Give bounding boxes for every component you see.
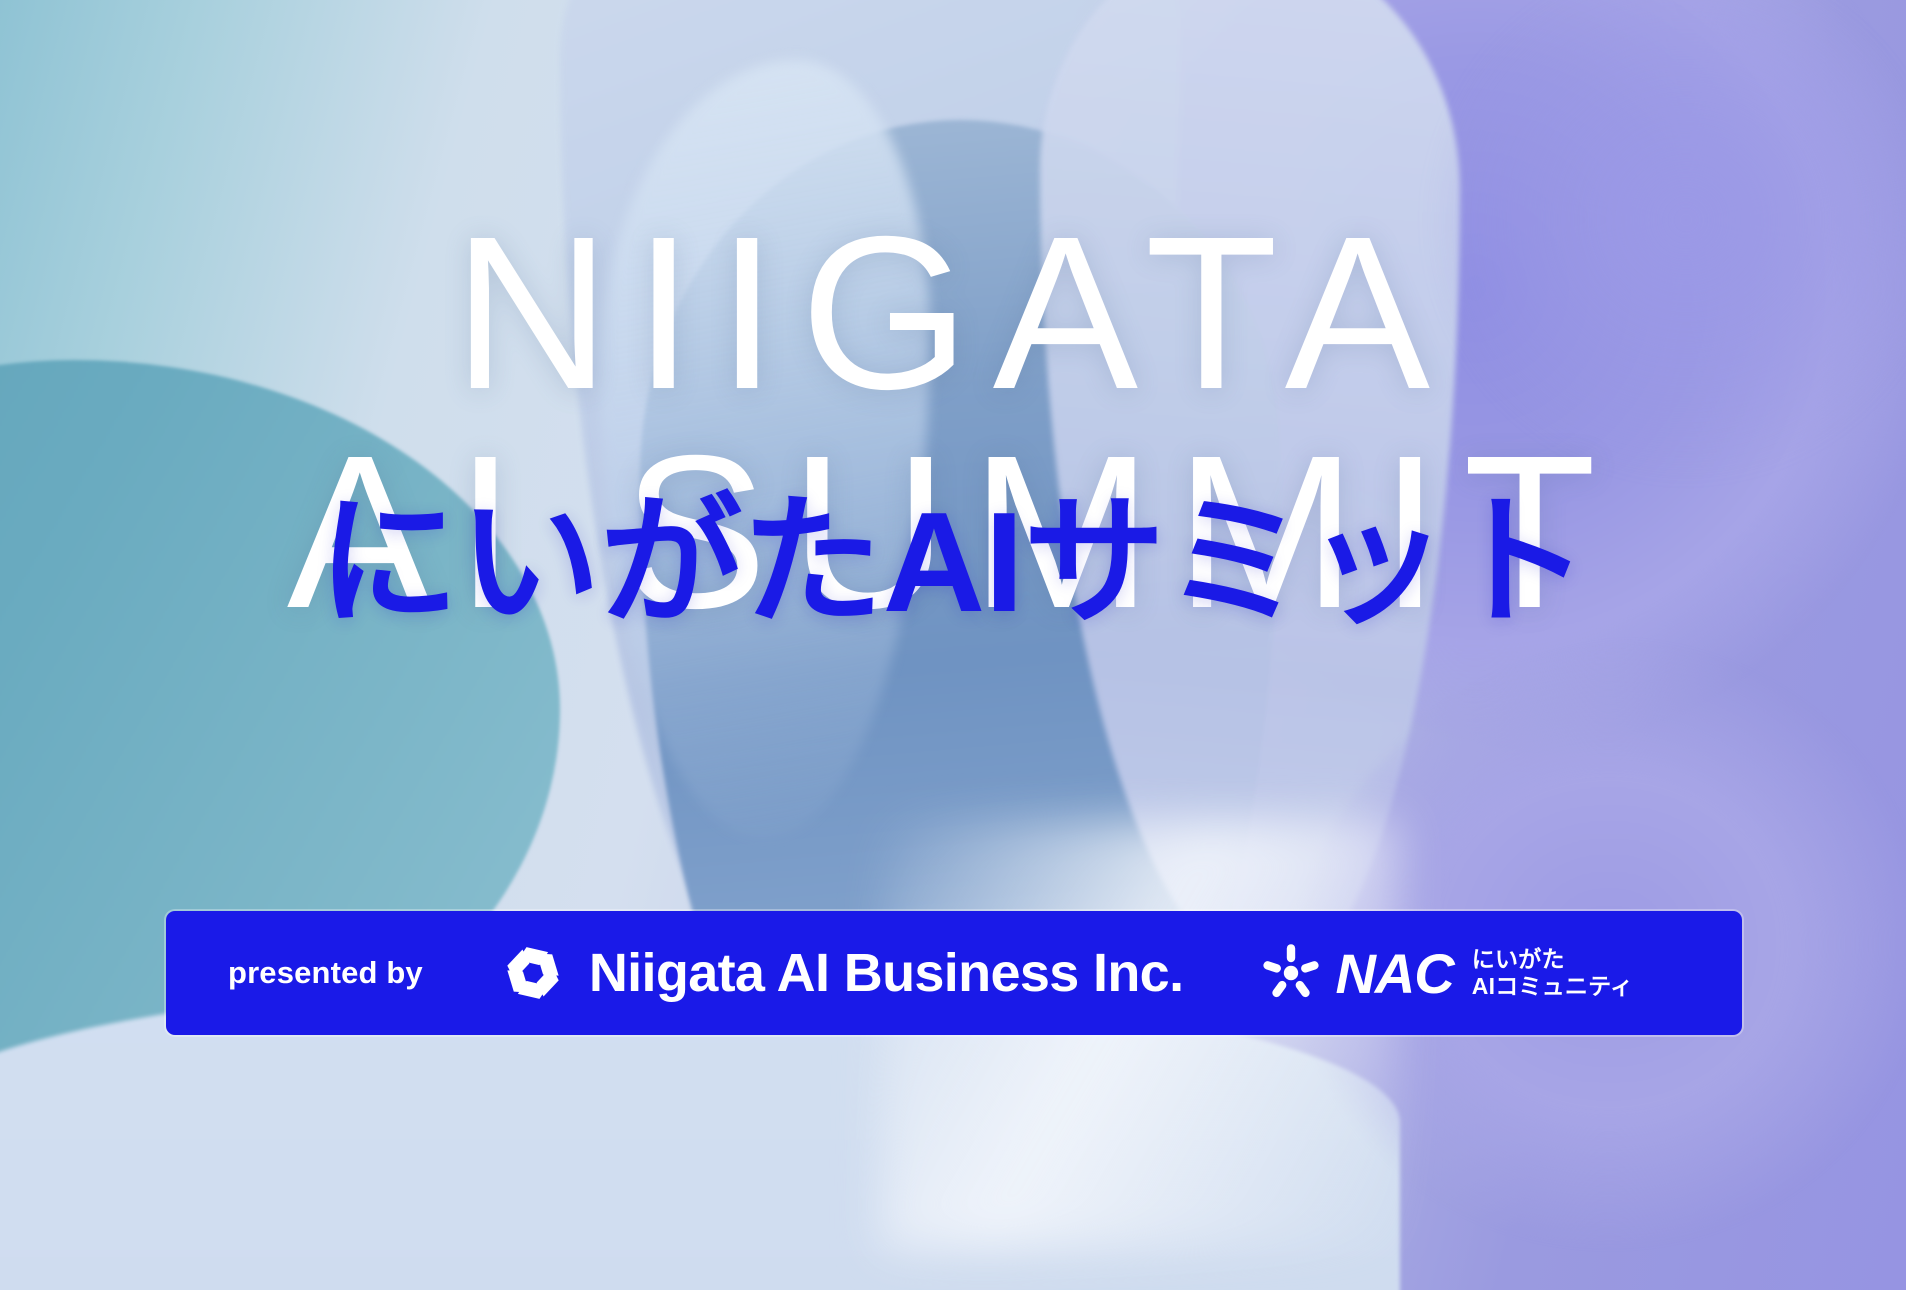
starburst-icon [1261, 943, 1321, 1003]
sponsor-tagline-nac: にいがた AIコミュニティ [1472, 946, 1633, 999]
sponsor-tagline-line-1: にいがた [1472, 946, 1633, 973]
poster-canvas: NIIGATA AI SUMMIT にいがたAIサミット presented b… [0, 0, 1906, 1290]
sponsor-name-nac: NAC [1335, 941, 1453, 1006]
sponsor-logo-niigata-ai-business[interactable]: Niigata AI Business Inc. [497, 937, 1184, 1009]
presented-by-label: presented by [228, 955, 423, 991]
sponsor-logo-nac[interactable]: NAC にいがた AIコミュニティ [1261, 941, 1633, 1006]
sponsor-tagline-line-2: AIコミュニティ [1472, 973, 1633, 1000]
page-title: にいがたAIサミット [0, 492, 1906, 634]
presented-by-banner: presented by Niigata AI Business Inc. [166, 911, 1742, 1035]
light-gleam-shape [880, 820, 1400, 1250]
wordmark-line-1: NIIGATA [453, 192, 1453, 435]
sponsor-name-niigata-ai-business: Niigata AI Business Inc. [589, 942, 1184, 1004]
hexagon-pinwheel-icon [497, 937, 569, 1009]
